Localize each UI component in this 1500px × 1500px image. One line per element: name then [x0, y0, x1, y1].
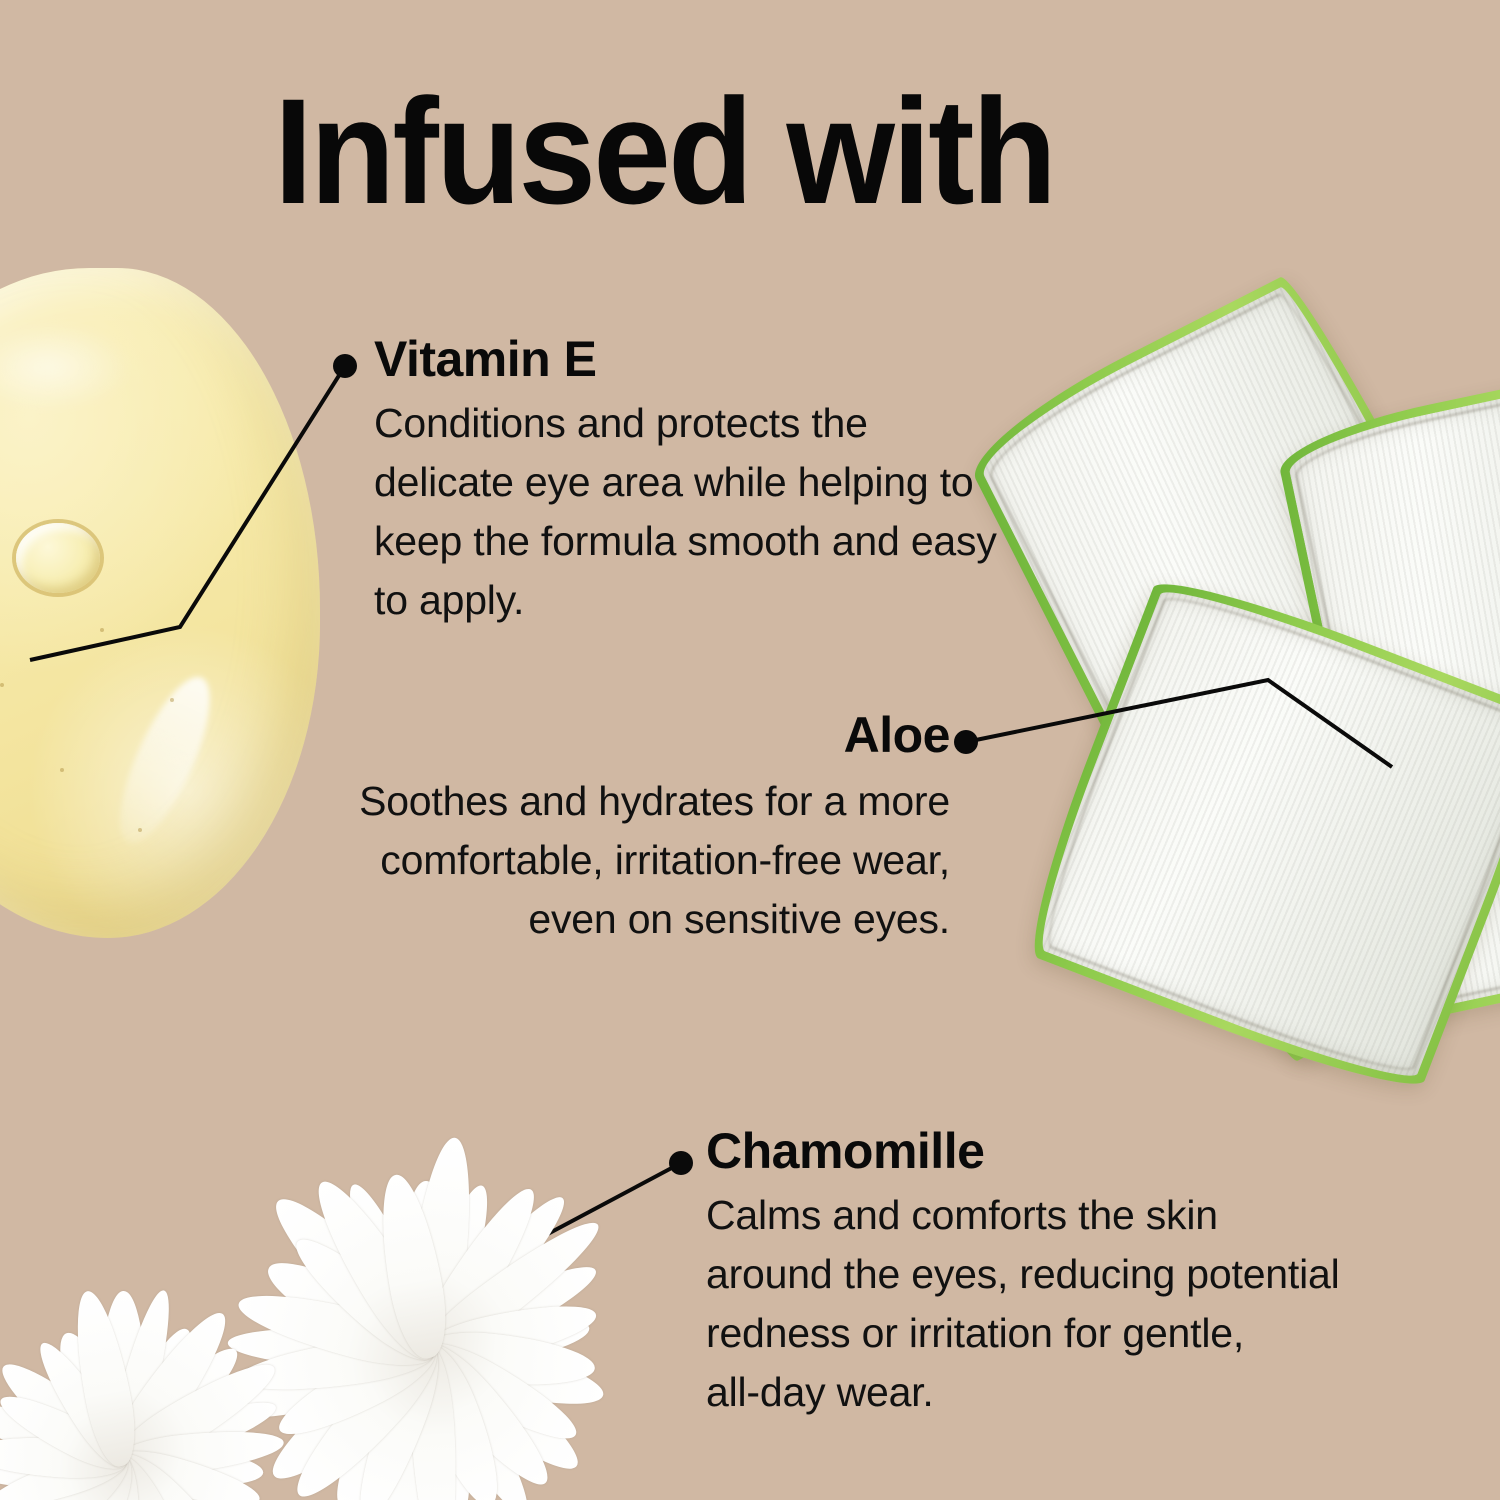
description-line: keep the formula smooth and easy	[374, 512, 997, 571]
description-line: around the eyes, reducing potential	[706, 1245, 1340, 1304]
aloe-leader-line	[966, 680, 1392, 767]
aloe-leader-dot	[954, 730, 978, 754]
infographic-canvas: Infused with Vitamin E Conditions and pr…	[0, 0, 1500, 1500]
vitamin-e-leader-dot	[333, 354, 357, 378]
description-line: Calms and comforts the skin	[706, 1186, 1340, 1245]
vitamin-e-leader-line	[30, 366, 345, 660]
description-line: to apply.	[374, 571, 997, 630]
description-line: comfortable, irritation-free wear,	[296, 831, 950, 890]
ingredient-block-chamomille: Chamomille Calms and comforts the skin a…	[706, 1124, 1340, 1422]
chamomille-leader-line	[363, 1163, 681, 1452]
chamomille-leader-dot	[669, 1151, 693, 1175]
description-line: Soothes and hydrates for a more	[296, 772, 950, 831]
description-line: Conditions and protects the	[374, 394, 997, 453]
description-line: all-day wear.	[706, 1363, 1340, 1422]
ingredient-name-vitamin-e: Vitamin E	[374, 332, 997, 386]
ingredient-description-chamomille: Calms and comforts the skin around the e…	[706, 1186, 1340, 1422]
ingredient-block-aloe: Aloe Soothes and hydrates for a more com…	[296, 708, 950, 949]
ingredient-description-aloe: Soothes and hydrates for a more comforta…	[296, 772, 950, 949]
page-title: Infused with	[274, 76, 1054, 226]
description-line: delicate eye area while helping to	[374, 453, 997, 512]
description-line: even on sensitive eyes.	[296, 890, 950, 949]
description-line: redness or irritation for gentle,	[706, 1304, 1340, 1363]
ingredient-name-chamomille: Chamomille	[706, 1124, 1340, 1178]
ingredient-block-vitamin-e: Vitamin E Conditions and protects the de…	[374, 332, 997, 630]
ingredient-name-aloe: Aloe	[296, 708, 950, 762]
ingredient-description-vitamin-e: Conditions and protects the delicate eye…	[374, 394, 997, 630]
